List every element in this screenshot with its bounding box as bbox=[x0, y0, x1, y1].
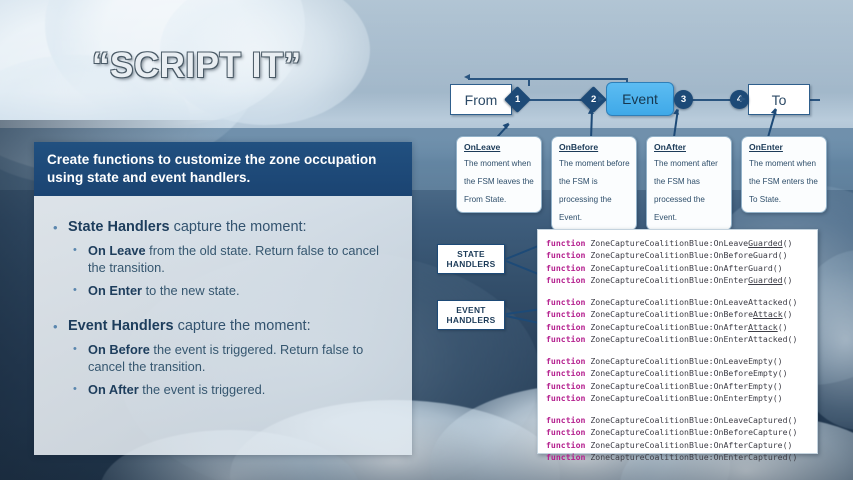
code-post: () bbox=[783, 275, 793, 285]
code-keyword: function bbox=[546, 368, 585, 378]
loop-line bbox=[528, 78, 530, 86]
code-keyword: function bbox=[546, 415, 585, 425]
code-underline: Guarded bbox=[748, 238, 783, 248]
code-keyword: function bbox=[546, 238, 585, 248]
code-line: function ZoneCaptureCoalitionBlue:OnLeav… bbox=[546, 296, 812, 308]
callout-desc: The moment after the FSM has processed t… bbox=[654, 159, 718, 222]
code-pre: ZoneCaptureCoalitionBlue:OnAfterCapture(… bbox=[585, 440, 792, 450]
sub-bullet-bold: On Leave bbox=[88, 243, 146, 258]
code-pre: ZoneCaptureCoalitionBlue:OnLeaveEmpty() bbox=[585, 356, 782, 366]
bullet-dot-icon: • bbox=[73, 382, 77, 396]
code-pre: ZoneCaptureCoalitionBlue:OnEnterAttacked… bbox=[585, 334, 797, 344]
code-panel: function ZoneCaptureCoalitionBlue:OnLeav… bbox=[537, 229, 818, 454]
code-keyword: function bbox=[546, 250, 585, 260]
code-line: function ZoneCaptureCoalitionBlue:OnBefo… bbox=[546, 249, 812, 261]
code-keyword: function bbox=[546, 334, 585, 344]
code-line: function ZoneCaptureCoalitionBlue:OnBefo… bbox=[546, 308, 812, 320]
bullet-dot-icon: • bbox=[53, 219, 58, 236]
label-line-1: STATE bbox=[457, 249, 485, 260]
bullet-dot-icon: • bbox=[73, 342, 77, 356]
bullet-event-handlers: • Event Handlers capture the moment: • O… bbox=[50, 317, 398, 398]
sub-bullet-rest: to the new state. bbox=[142, 283, 239, 298]
badge-3-label: 3 bbox=[681, 94, 686, 105]
code-post: () bbox=[783, 309, 793, 319]
bullet-dot-icon: • bbox=[73, 283, 77, 297]
sub-bullet-on-enter: • On Enter to the new state. bbox=[68, 283, 398, 299]
content-panel: Create functions to customize the zone o… bbox=[34, 142, 412, 455]
bullet-list: • State Handlers capture the moment: • O… bbox=[50, 218, 398, 399]
callout-desc: The moment before the FSM is processing … bbox=[559, 159, 630, 222]
code-line: function ZoneCaptureCoalitionBlue:OnAfte… bbox=[546, 380, 812, 392]
label-line-2: HANDLERS bbox=[447, 259, 496, 270]
sub-bullet-bold: On Enter bbox=[88, 283, 142, 298]
bullet-lead-bold: State Handlers bbox=[68, 219, 170, 235]
bullet-dot-icon: • bbox=[53, 318, 58, 335]
badge-3[interactable]: 3 bbox=[674, 90, 693, 109]
code-pre: ZoneCaptureCoalitionBlue:OnBefore bbox=[585, 309, 753, 319]
code-group-guarded: function ZoneCaptureCoalitionBlue:OnLeav… bbox=[546, 237, 812, 287]
code-keyword: function bbox=[546, 427, 585, 437]
arrowhead-to-event bbox=[598, 96, 604, 102]
node-to[interactable]: To bbox=[748, 84, 810, 115]
code-keyword: function bbox=[546, 440, 585, 450]
code-pre: ZoneCaptureCoalitionBlue:OnEnterCaptured… bbox=[585, 452, 797, 462]
sub-bullet-bold: On After bbox=[88, 382, 139, 397]
code-underline: Attack bbox=[753, 309, 783, 319]
code-line: function ZoneCaptureCoalitionBlue:OnEnte… bbox=[546, 392, 812, 404]
label-line-2: HANDLERS bbox=[447, 315, 496, 326]
code-line: function ZoneCaptureCoalitionBlue:OnAfte… bbox=[546, 321, 812, 333]
callout-onleave: OnLeave The moment when the FSM leaves t… bbox=[456, 136, 542, 213]
bullet-lead-rest: capture the moment: bbox=[170, 219, 307, 235]
code-line: function ZoneCaptureCoalitionBlue:OnEnte… bbox=[546, 333, 812, 345]
callout-desc: The moment when the FSM enters the To St… bbox=[749, 159, 818, 204]
code-pre: ZoneCaptureCoalitionBlue:OnAfterEmpty() bbox=[585, 381, 782, 391]
label-event-handlers[interactable]: EVENT HANDLERS bbox=[437, 300, 505, 330]
bullet-dot-icon: • bbox=[73, 243, 77, 257]
code-underline: Attack bbox=[748, 322, 778, 332]
sub-bullet-rest: the event is triggered. bbox=[139, 382, 266, 397]
code-keyword: function bbox=[546, 393, 585, 403]
code-line: function ZoneCaptureCoalitionBlue:OnLeav… bbox=[546, 414, 812, 426]
callout-onafter: OnAfter The moment after the FSM has pro… bbox=[646, 136, 732, 231]
callout-title: OnBefore bbox=[559, 142, 630, 152]
sub-bullet-bold: On Before bbox=[88, 342, 150, 357]
callout-title: OnLeave bbox=[464, 142, 535, 152]
code-line: function ZoneCaptureCoalitionBlue:OnAfte… bbox=[546, 262, 812, 274]
badge-2-label: 2 bbox=[591, 94, 596, 105]
badge-1-label: 1 bbox=[515, 94, 520, 105]
bullet-lead-rest: capture the moment: bbox=[174, 318, 311, 334]
sub-bullet-on-leave: • On Leave from the old state. Return fa… bbox=[68, 243, 398, 276]
sub-bullet-on-after: • On After the event is triggered. bbox=[68, 382, 398, 398]
bullet-lead-bold: Event Handlers bbox=[68, 318, 174, 334]
code-group-empty: function ZoneCaptureCoalitionBlue:OnLeav… bbox=[546, 355, 812, 405]
bullet-state-handlers: • State Handlers capture the moment: • O… bbox=[50, 218, 398, 299]
arrowhead-to-to bbox=[740, 96, 746, 102]
sub-bullet-list: • On Leave from the old state. Return fa… bbox=[68, 243, 398, 299]
label-state-handlers[interactable]: STATE HANDLERS bbox=[437, 244, 505, 274]
code-keyword: function bbox=[546, 381, 585, 391]
code-pre: ZoneCaptureCoalitionBlue:OnLeaveCaptured… bbox=[585, 415, 797, 425]
code-pre: ZoneCaptureCoalitionBlue:OnEnter bbox=[585, 275, 748, 285]
code-post: () bbox=[783, 238, 793, 248]
panel-header-text: Create functions to customize the zone o… bbox=[34, 142, 412, 196]
code-pre: ZoneCaptureCoalitionBlue:OnBeforeGuard() bbox=[585, 250, 787, 260]
code-underline: Guarded bbox=[748, 275, 783, 285]
code-line: function ZoneCaptureCoalitionBlue:OnBefo… bbox=[546, 367, 812, 379]
code-line: function ZoneCaptureCoalitionBlue:OnAfte… bbox=[546, 439, 812, 451]
code-keyword: function bbox=[546, 275, 585, 285]
callout-onenter: OnEnter The moment when the FSM enters t… bbox=[741, 136, 827, 213]
code-pre: ZoneCaptureCoalitionBlue:OnBeforeEmpty() bbox=[585, 368, 787, 378]
code-post: () bbox=[778, 322, 788, 332]
code-pre: ZoneCaptureCoalitionBlue:OnBeforeCapture… bbox=[585, 427, 797, 437]
code-line: function ZoneCaptureCoalitionBlue:OnEnte… bbox=[546, 274, 812, 286]
code-pre: ZoneCaptureCoalitionBlue:OnEnterEmpty() bbox=[585, 393, 782, 403]
sub-bullet-on-before: • On Before the event is triggered. Retu… bbox=[68, 342, 398, 375]
code-pre: ZoneCaptureCoalitionBlue:OnLeaveAttacked… bbox=[585, 297, 797, 307]
slide-title: “SCRIPT IT” bbox=[92, 46, 302, 86]
loop-arrowhead bbox=[464, 74, 470, 80]
callout-title: OnEnter bbox=[749, 142, 820, 152]
sub-bullet-list: • On Before the event is triggered. Retu… bbox=[68, 342, 398, 398]
loop-line bbox=[468, 78, 626, 80]
callout-onbefore: OnBefore The moment before the FSM is pr… bbox=[551, 136, 637, 231]
code-pre: ZoneCaptureCoalitionBlue:OnAfter bbox=[585, 322, 748, 332]
code-line: function ZoneCaptureCoalitionBlue:OnEnte… bbox=[546, 451, 812, 463]
callout-desc: The moment when the FSM leaves the From … bbox=[464, 159, 534, 204]
code-group-attacked: function ZoneCaptureCoalitionBlue:OnLeav… bbox=[546, 296, 812, 346]
code-keyword: function bbox=[546, 297, 585, 307]
code-keyword: function bbox=[546, 263, 585, 273]
label-line-1: EVENT bbox=[456, 305, 485, 316]
code-line: function ZoneCaptureCoalitionBlue:OnLeav… bbox=[546, 355, 812, 367]
code-group-captured: function ZoneCaptureCoalitionBlue:OnLeav… bbox=[546, 414, 812, 464]
code-pre: ZoneCaptureCoalitionBlue:OnLeave bbox=[585, 238, 748, 248]
node-event[interactable]: Event bbox=[606, 82, 674, 116]
code-keyword: function bbox=[546, 309, 585, 319]
code-line: function ZoneCaptureCoalitionBlue:OnLeav… bbox=[546, 237, 812, 249]
code-line: function ZoneCaptureCoalitionBlue:OnBefo… bbox=[546, 426, 812, 438]
code-keyword: function bbox=[546, 322, 585, 332]
panel-body: • State Handlers capture the moment: • O… bbox=[34, 196, 412, 399]
callout-title: OnAfter bbox=[654, 142, 725, 152]
code-pre: ZoneCaptureCoalitionBlue:OnAfterGuard() bbox=[585, 263, 782, 273]
node-from[interactable]: From bbox=[450, 84, 512, 115]
code-keyword: function bbox=[546, 356, 585, 366]
code-keyword: function bbox=[546, 452, 585, 462]
